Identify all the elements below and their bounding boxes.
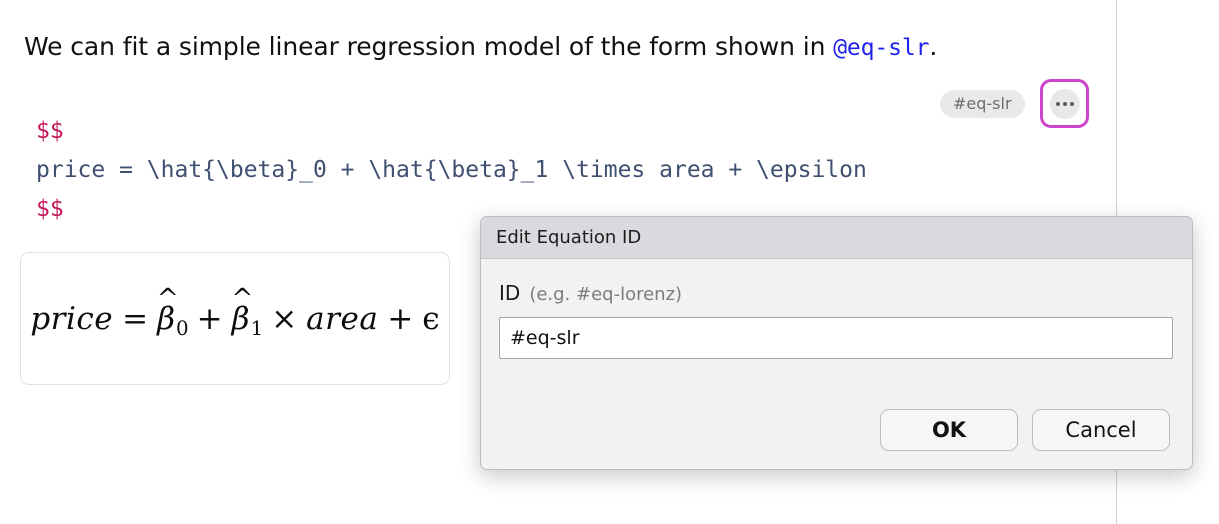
id-field-label-row: ID (e.g. #eq-lorenz) [499, 281, 1170, 305]
edit-equation-id-dialog: Edit Equation ID ID (e.g. #eq-lorenz) OK… [480, 216, 1193, 470]
more-options-icon [1050, 89, 1080, 119]
code-line-equation: price = \hat{\beta}_0 + \hat{\beta}_1 \t… [36, 157, 867, 183]
math-plus-1: + [197, 301, 223, 337]
math-epsilon: ϵ [422, 301, 439, 337]
math-rhs-var: area [306, 301, 378, 337]
dialog-actions: OK Cancel [880, 409, 1170, 451]
dialog-title: Edit Equation ID [496, 227, 641, 248]
dialog-body: ID (e.g. #eq-lorenz) [481, 259, 1192, 359]
math-beta0: ^β [157, 301, 175, 337]
math-plus-2: + [387, 301, 413, 337]
code-line-close-delim: $$ [36, 196, 64, 222]
dot-2 [1063, 102, 1067, 106]
id-field-label: ID [499, 281, 520, 305]
paragraph-suffix: . [929, 32, 937, 61]
paragraph-text: We can fit a simple linear regression mo… [24, 30, 937, 65]
id-field-hint: (e.g. #eq-lorenz) [529, 284, 682, 305]
cancel-button[interactable]: Cancel [1032, 409, 1170, 451]
equation-id-input[interactable] [499, 317, 1173, 359]
equation-crossref-link[interactable]: @eq-slr [833, 35, 929, 61]
math-times: × [271, 301, 297, 337]
hat-accent-0: ^ [157, 286, 179, 312]
equation-options-button[interactable] [1040, 79, 1089, 128]
ok-button[interactable]: OK [880, 409, 1018, 451]
rendered-equation: price = ^β0 + ^β1 × area + ϵ [30, 301, 439, 337]
math-beta0-subscript: 0 [176, 317, 189, 340]
latex-source-block[interactable]: $$ price = \hat{\beta}_0 + \hat{\beta}_1… [36, 112, 867, 229]
paragraph-prefix: We can fit a simple linear regression mo… [24, 32, 833, 61]
hat-accent-1: ^ [231, 286, 253, 312]
math-equals: = [122, 301, 148, 337]
equation-preview-box: price = ^β0 + ^β1 × area + ϵ [20, 252, 450, 385]
dialog-titlebar: Edit Equation ID [481, 217, 1192, 259]
math-beta1: ^β [232, 301, 250, 337]
math-beta1-subscript: 1 [251, 317, 264, 340]
dot-3 [1070, 102, 1074, 106]
dot-1 [1056, 102, 1060, 106]
equation-id-badge: #eq-slr [940, 90, 1025, 118]
code-line-open-delim: $$ [36, 118, 64, 144]
math-lhs: price [30, 301, 113, 337]
